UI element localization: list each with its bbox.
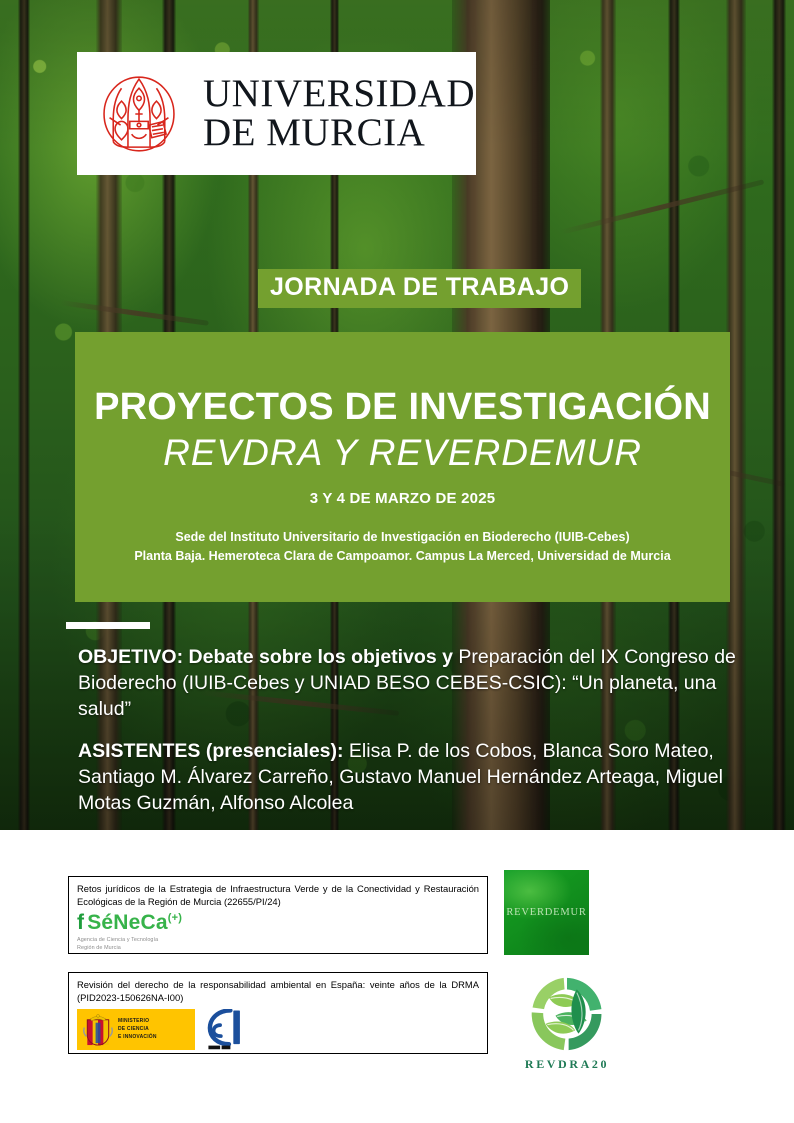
spain-coat-of-arms-icon [83, 1013, 113, 1047]
objective-label: OBJETIVO: [78, 646, 183, 668]
page-title: PROYECTOS DE INVESTIGACIÓN [75, 388, 730, 428]
venue-line-1: Sede del Instituto Universitario de Inve… [75, 528, 730, 547]
reverdemur-label: REVERDEMUR [506, 907, 586, 918]
seneca-superscript: (+) [168, 912, 182, 924]
revdra20-logo: REVDRA20 [512, 973, 622, 1072]
ministry-line3: E INNOVACIÓN [118, 1034, 157, 1042]
venue-line-2: Planta Baja. Hemeroteca Clara de Campoam… [75, 547, 730, 566]
project-acronyms-subtitle: REVDRA Y REVERDEMUR [75, 434, 730, 473]
attendees-block: ASISTENTES (presenciales): Elisa P. de l… [78, 739, 740, 817]
main-title-panel: PROYECTOS DE INVESTIGACIÓN REVDRA Y REVE… [75, 332, 730, 602]
seneca-subtitle-line2: Región de Murcia [77, 944, 479, 952]
ministry-line2: DE CIENCIA [118, 1026, 157, 1034]
ministry-name: MINISTERIO DE CIENCIA E INNOVACIÓN [118, 1018, 157, 1041]
funding-footer: Retos jurídicos de la Estrategia de Infr… [0, 830, 794, 1123]
project-card-seneca: Retos jurídicos de la Estrategia de Infr… [68, 876, 488, 954]
seneca-logo: fSéNeCa(+) Agencia de Ciencia y Tecnolog… [77, 912, 479, 952]
project-description: Revisión del derecho de la responsabilid… [77, 979, 479, 1004]
divider-dash [66, 622, 150, 629]
seneca-f-mark: f [77, 911, 84, 934]
um-coat-of-arms-icon [93, 68, 185, 160]
event-date: 3 Y 4 DE MARZO DE 2025 [75, 490, 730, 507]
university-logo: UNIVERSIDAD DE MURCIA [77, 52, 476, 175]
ministry-line1: MINISTERIO [118, 1018, 157, 1026]
objective-bold-text: Debate sobre los objetivos y [189, 646, 453, 668]
event-venue: Sede del Instituto Universitario de Inve… [75, 528, 730, 567]
event-type-banner: JORNADA DE TRABAJO [258, 269, 581, 308]
aei-logo [204, 1009, 248, 1050]
leaf-circle-icon [526, 973, 608, 1055]
reverdemur-logo: REVERDEMUR [504, 870, 589, 955]
ministerio-ciencia-innovacion-logo: MINISTERIO DE CIENCIA E INNOVACIÓN [77, 1009, 195, 1050]
seneca-subtitle: Agencia de Ciencia y Tecnología Región d… [77, 936, 479, 952]
project-card-drma: Revisión del derecho de la responsabilid… [68, 972, 488, 1054]
ministry-logos-row: MINISTERIO DE CIENCIA E INNOVACIÓN [77, 1009, 479, 1050]
attendees-label: ASISTENTES (presenciales): [78, 740, 344, 762]
seneca-name: SéNeCa [87, 911, 168, 934]
university-name-line1: UNIVERSIDAD [203, 75, 475, 113]
university-wordmark: UNIVERSIDAD DE MURCIA [203, 75, 475, 151]
event-details-text: OBJETIVO: Debate sobre los objetivos y P… [78, 645, 740, 817]
project-description: Retos jurídicos de la Estrategia de Infr… [77, 883, 479, 908]
objective-block: OBJETIVO: Debate sobre los objetivos y P… [78, 645, 740, 723]
university-name-line2: DE MURCIA [203, 114, 475, 152]
seneca-wordmark: fSéNeCa(+) [77, 912, 479, 933]
seneca-subtitle-line1: Agencia de Ciencia y Tecnología [77, 936, 479, 944]
revdra20-label: REVDRA20 [512, 1057, 622, 1072]
